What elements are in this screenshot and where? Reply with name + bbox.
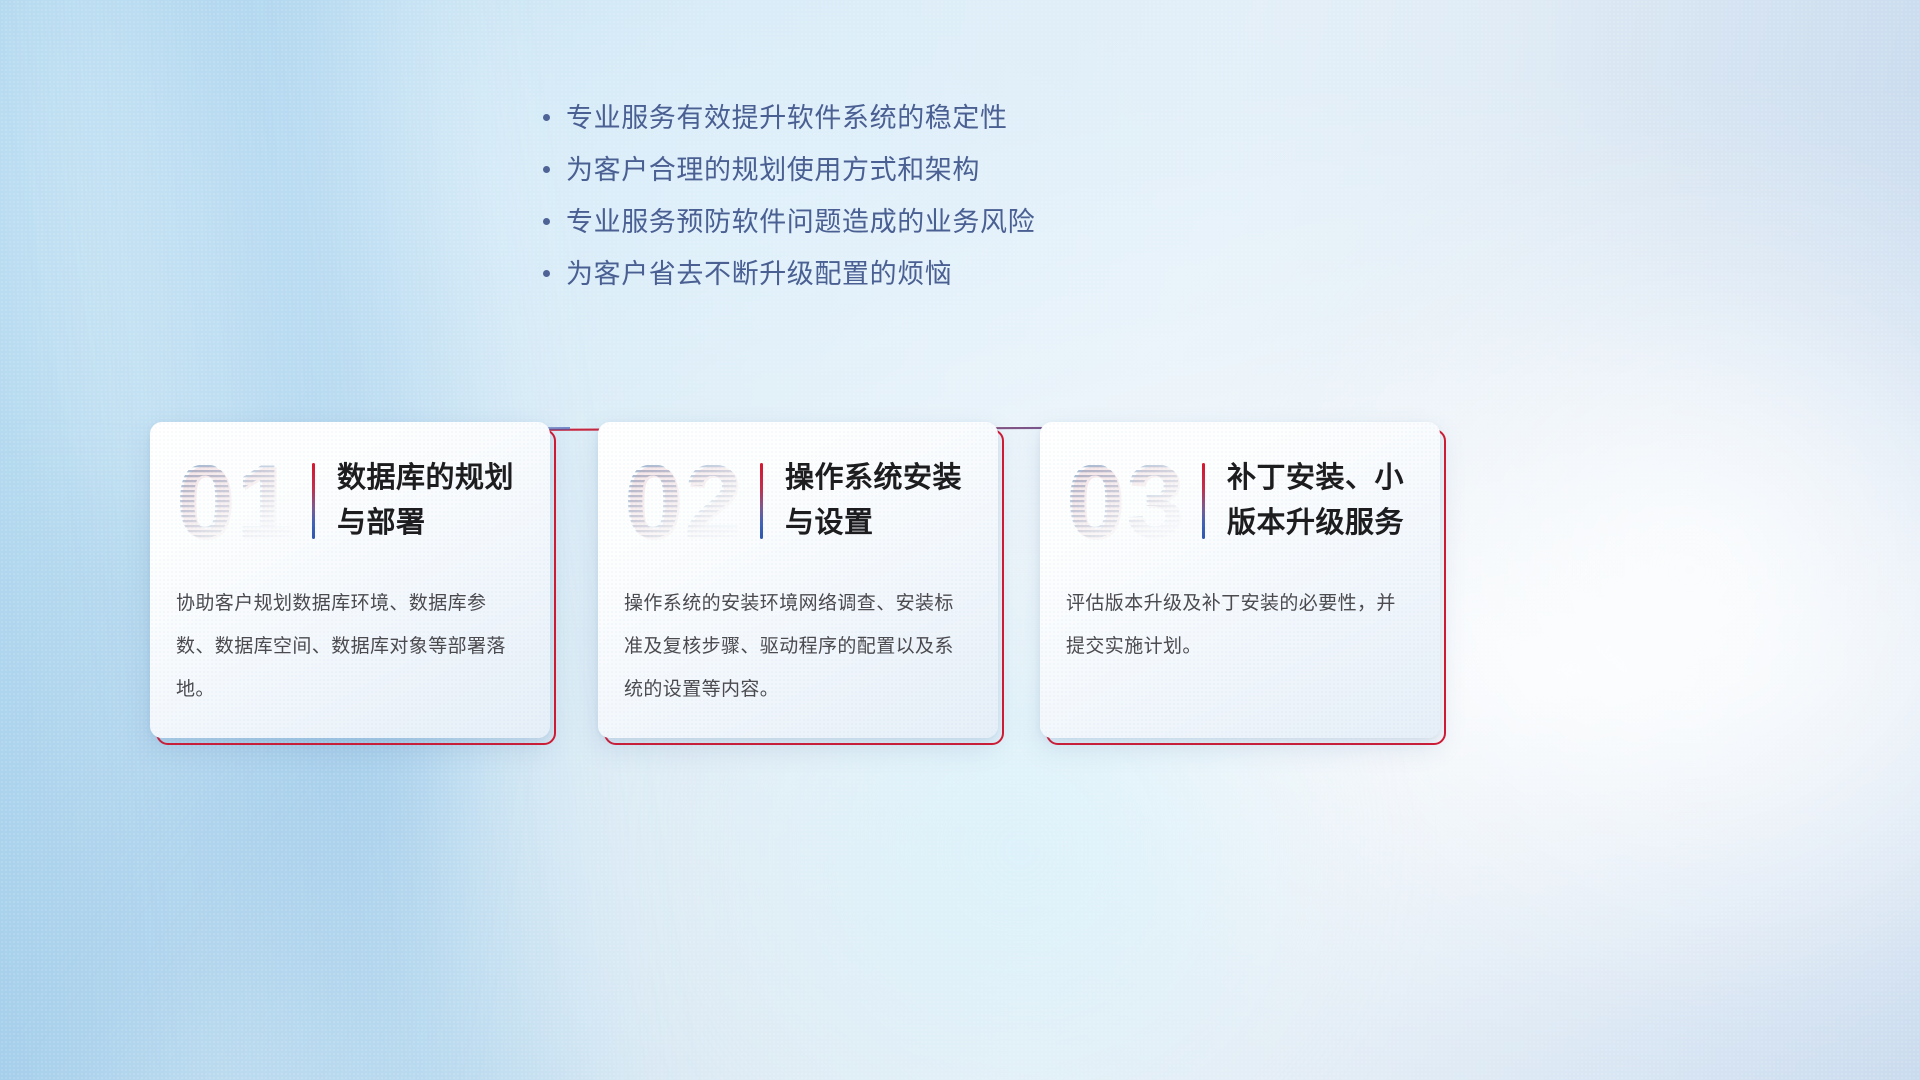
list-item: 专业服务预防软件问题造成的业务风险 — [536, 196, 1236, 247]
bullet-dot-icon — [536, 166, 566, 173]
card-number-watermark: 02 02 — [622, 445, 754, 557]
card-header: 02 02 操作系统安装 与设置 — [598, 422, 998, 580]
card-accent-bar — [760, 463, 763, 539]
card-title: 操作系统安装 与设置 — [785, 456, 962, 546]
bullet-dot-icon — [536, 270, 566, 277]
card-title: 补丁安装、小 版本升级服务 — [1227, 456, 1404, 546]
card-accent-bar — [312, 463, 315, 539]
bullet-text: 专业服务预防软件问题造成的业务风险 — [566, 203, 1035, 241]
card-header: 03 03 补丁安装、小 版本升级服务 — [1040, 422, 1440, 580]
card-description: 操作系统的安装环境网络调查、安装标准及复核步骤、驱动程序的配置以及系统的设置等内… — [598, 582, 998, 711]
bullet-text: 专业服务有效提升软件系统的稳定性 — [566, 99, 1008, 137]
svg-text:01: 01 — [178, 446, 298, 557]
svg-text:03: 03 — [1068, 446, 1188, 557]
card-header: 01 01 数据库的规划 与部署 — [150, 422, 550, 580]
list-item: 专业服务有效提升软件系统的稳定性 — [536, 92, 1236, 143]
service-card[interactable]: 02 02 操作系统安装 与设置 操作系统的安装环境网络调查、安装标准及复核步骤… — [598, 422, 998, 738]
bullet-text: 为客户合理的规划使用方式和架构 — [566, 151, 980, 189]
service-card[interactable]: 03 03 补丁安装、小 版本升级服务 评估版本升级及补丁安装的必要性，并提交实… — [1040, 422, 1440, 738]
slide-canvas: 专业服务有效提升软件系统的稳定性 为客户合理的规划使用方式和架构 专业服务预防软… — [0, 0, 1920, 1080]
svg-text:02: 02 — [626, 446, 746, 557]
benefits-bullet-list: 专业服务有效提升软件系统的稳定性 为客户合理的规划使用方式和架构 专业服务预防软… — [536, 92, 1236, 300]
card-description: 协助客户规划数据库环境、数据库参数、数据库空间、数据库对象等部署落地。 — [150, 582, 550, 711]
list-item: 为客户省去不断升级配置的烦恼 — [536, 248, 1236, 299]
card-number-watermark: 03 03 — [1064, 445, 1196, 557]
card-surface: 01 01 数据库的规划 与部署 协助客户规划数据库环境、数据库参数、数据库空间… — [150, 422, 550, 738]
card-title: 数据库的规划 与部署 — [337, 456, 514, 546]
bullet-dot-icon — [536, 218, 566, 225]
bullet-dot-icon — [536, 114, 566, 121]
card-surface: 03 03 补丁安装、小 版本升级服务 评估版本升级及补丁安装的必要性，并提交实… — [1040, 422, 1440, 738]
card-number-watermark: 01 01 — [174, 445, 306, 557]
service-card[interactable]: 01 01 数据库的规划 与部署 协助客户规划数据库环境、数据库参数、数据库空间… — [150, 422, 550, 738]
list-item: 为客户合理的规划使用方式和架构 — [536, 144, 1236, 195]
bullet-text: 为客户省去不断升级配置的烦恼 — [566, 255, 952, 293]
card-description: 评估版本升级及补丁安装的必要性，并提交实施计划。 — [1040, 582, 1440, 668]
service-card-list: 01 01 数据库的规划 与部署 协助客户规划数据库环境、数据库参数、数据库空间… — [150, 422, 1460, 748]
card-accent-bar — [1202, 463, 1205, 539]
card-surface: 02 02 操作系统安装 与设置 操作系统的安装环境网络调查、安装标准及复核步骤… — [598, 422, 998, 738]
